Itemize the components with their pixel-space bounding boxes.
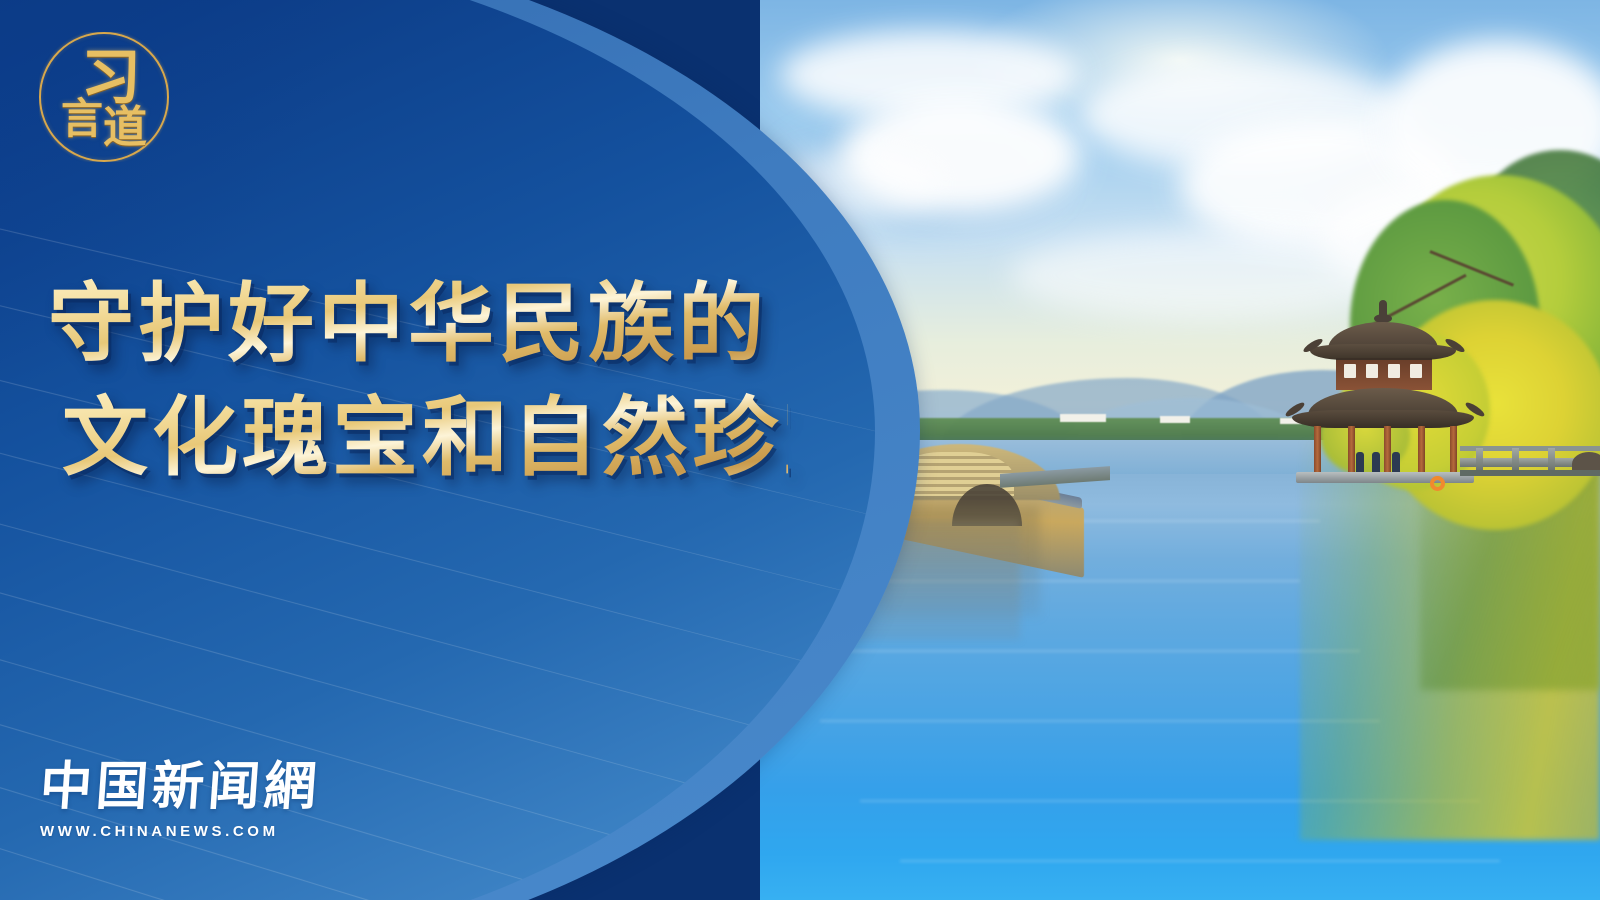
seal-char-yan: 言 (61, 98, 103, 140)
headline-line-1: 守护好中华民族的 (48, 268, 788, 382)
poster-canvas: 习 言 道 守护好中华民族的 文化瑰宝和自然珍宝 中国新闻網 WWW.CHINA… (0, 0, 1600, 900)
chinanews-wordmark: 中国新闻網 (38, 762, 322, 814)
xi-yan-dao-seal-logo[interactable]: 习 言 道 (33, 26, 175, 168)
pavilion-column (1450, 426, 1457, 476)
pavilion-window (1344, 364, 1356, 378)
far-building (1160, 416, 1190, 423)
pavilion-column (1384, 426, 1391, 476)
pavilion-window (1366, 364, 1378, 378)
rail-post (1548, 448, 1555, 470)
page-title: 守护好中华民族的 文化瑰宝和自然珍宝 (48, 268, 788, 495)
pavilion-column (1314, 426, 1321, 476)
pavilion-column (1418, 426, 1425, 476)
pavilion-platform (1296, 472, 1474, 483)
pavilion-column (1348, 426, 1355, 476)
pavilion-window (1410, 364, 1422, 378)
chinese-pavilion (1300, 300, 1470, 475)
decor-line (0, 858, 868, 900)
seal-char-dao: 道 (103, 106, 147, 150)
rail-post (1512, 448, 1519, 470)
chinanews-url: WWW.CHINANEWS.COM (40, 823, 320, 840)
life-ring (1430, 476, 1445, 491)
pavilion-window (1388, 364, 1400, 378)
causeway-deck (1460, 470, 1600, 476)
chinanews-logo[interactable]: 中国新闻網 WWW.CHINANEWS.COM (40, 762, 320, 840)
rail-post (1476, 448, 1483, 470)
headline-line-2: 文化瑰宝和自然珍宝 (62, 382, 788, 496)
far-building (1060, 414, 1106, 422)
